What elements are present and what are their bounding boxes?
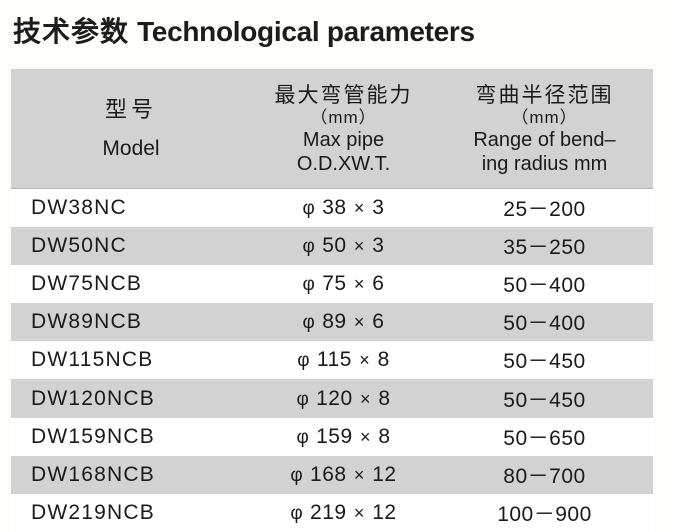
- column-header-max-pipe-english-line2: O.D.XW.T.: [253, 152, 434, 176]
- column-header-max-pipe: 最大弯管能力 （mm） Max pipe O.D.XW.T.: [251, 69, 436, 189]
- pipe-diameter-value: 219: [304, 501, 353, 524]
- cell-model: DW159NCB: [11, 418, 251, 456]
- cell-max-pipe: φ 159 × 8: [251, 418, 436, 456]
- table-row: DW168NCBφ 168 × 1280－700: [11, 456, 653, 494]
- diameter-symbol-icon: φ: [290, 503, 303, 524]
- pipe-diameter-value: 120: [310, 387, 359, 410]
- column-header-max-pipe-chinese: 最大弯管能力: [253, 82, 434, 108]
- diameter-symbol-icon: φ: [297, 350, 310, 371]
- cell-bending-radius: 50－400: [436, 265, 653, 303]
- pipe-diameter-value: 75: [316, 272, 353, 295]
- diameter-symbol-icon: φ: [303, 198, 316, 219]
- page-title-chinese: 技术参数: [13, 15, 129, 48]
- table-header-row: 型号 Model 最大弯管能力 （mm） Max pipe O.D.XW.T. …: [11, 69, 653, 189]
- cell-bending-radius: 50－650: [436, 418, 653, 456]
- cell-max-pipe: φ 75 × 6: [251, 265, 436, 303]
- cell-max-pipe: φ 120 × 8: [251, 379, 436, 417]
- pipe-wall-thickness-value: 8: [372, 425, 391, 448]
- table-row: DW120NCBφ 120 × 850－450: [11, 379, 653, 417]
- page-title: 技术参数 Technological parameters: [13, 12, 653, 52]
- cell-model: DW168NCB: [11, 456, 251, 494]
- cell-bending-radius: 100－900: [436, 494, 653, 532]
- diameter-symbol-icon: φ: [290, 465, 303, 486]
- cell-bending-radius: 50－450: [436, 341, 653, 379]
- cell-model: DW75NCB: [11, 265, 251, 303]
- pipe-wall-thickness-value: 12: [366, 463, 397, 486]
- multiply-symbol-icon: ×: [359, 427, 372, 447]
- pipe-wall-thickness-value: 6: [366, 310, 385, 333]
- column-header-model-chinese: 型号: [13, 94, 249, 134]
- multiply-symbol-icon: ×: [359, 389, 372, 409]
- cell-max-pipe: φ 89 × 6: [251, 303, 436, 341]
- cell-max-pipe: φ 115 × 8: [251, 341, 436, 379]
- multiply-symbol-icon: ×: [353, 274, 366, 294]
- column-header-bending-radius-english-line1: Range of bend–: [438, 128, 651, 152]
- table-row: DW50NCφ 50 × 335－250: [11, 227, 653, 265]
- cell-max-pipe: φ 168 × 12: [251, 456, 436, 494]
- pipe-wall-thickness-value: 6: [366, 272, 385, 295]
- column-header-max-pipe-english-line1: Max pipe: [253, 128, 434, 152]
- cell-bending-radius: 35－250: [436, 227, 653, 265]
- pipe-wall-thickness-value: 3: [366, 234, 385, 257]
- multiply-symbol-icon: ×: [353, 503, 366, 523]
- table-header: 型号 Model 最大弯管能力 （mm） Max pipe O.D.XW.T. …: [11, 69, 653, 189]
- cell-max-pipe: φ 38 × 3: [251, 189, 436, 227]
- table-body: DW38NCφ 38 × 325－200DW50NCφ 50 × 335－250…: [11, 189, 653, 532]
- multiply-symbol-icon: ×: [353, 236, 366, 256]
- pipe-diameter-value: 159: [310, 425, 359, 448]
- cell-bending-radius: 80－700: [436, 456, 653, 494]
- pipe-diameter-value: 89: [316, 310, 353, 333]
- pipe-diameter-value: 168: [304, 463, 353, 486]
- column-header-model-english: Model: [13, 134, 249, 164]
- column-header-bending-radius-chinese: 弯曲半径范围: [438, 82, 651, 108]
- diameter-symbol-icon: φ: [303, 312, 316, 333]
- diameter-symbol-icon: φ: [296, 389, 309, 410]
- table-row: DW75NCBφ 75 × 650－400: [11, 265, 653, 303]
- cell-model: DW50NC: [11, 227, 251, 265]
- diameter-symbol-icon: φ: [303, 236, 316, 257]
- table-row: DW159NCBφ 159 × 850－650: [11, 418, 653, 456]
- column-header-bending-radius-english-line2: ing radius mm: [438, 152, 651, 176]
- cell-model: DW115NCB: [11, 341, 251, 379]
- column-header-bending-radius: 弯曲半径范围 （mm） Range of bend– ing radius mm: [436, 69, 653, 189]
- cell-bending-radius: 50－450: [436, 379, 653, 417]
- column-header-model: 型号 Model: [11, 69, 251, 189]
- pipe-diameter-value: 115: [311, 348, 359, 371]
- cell-max-pipe: φ 50 × 3: [251, 227, 436, 265]
- table-row: DW219NCBφ 219 × 12100－900: [11, 494, 653, 532]
- pipe-wall-thickness-value: 8: [372, 387, 391, 410]
- table-row: DW38NCφ 38 × 325－200: [11, 189, 653, 227]
- table-row: DW115NCBφ 115 × 850－450: [11, 341, 653, 379]
- cell-model: DW219NCB: [11, 494, 251, 532]
- table-row: DW89NCBφ 89 × 650－400: [11, 303, 653, 341]
- cell-model: DW120NCB: [11, 379, 251, 417]
- column-header-bending-radius-unit: （mm）: [438, 108, 651, 128]
- specification-table: 型号 Model 最大弯管能力 （mm） Max pipe O.D.XW.T. …: [11, 69, 653, 532]
- multiply-symbol-icon: ×: [353, 198, 366, 218]
- pipe-diameter-value: 50: [316, 234, 353, 257]
- cell-model: DW38NC: [11, 189, 251, 227]
- cell-model: DW89NCB: [11, 303, 251, 341]
- cell-bending-radius: 25－200: [436, 189, 653, 227]
- diameter-symbol-icon: φ: [296, 427, 309, 448]
- cell-max-pipe: φ 219 × 12: [251, 494, 436, 532]
- spec-table-container: 型号 Model 最大弯管能力 （mm） Max pipe O.D.XW.T. …: [11, 69, 653, 532]
- pipe-wall-thickness-value: 12: [366, 501, 397, 524]
- diameter-symbol-icon: φ: [303, 274, 316, 295]
- pipe-wall-thickness-value: 3: [366, 196, 385, 219]
- cell-bending-radius: 50－400: [436, 303, 653, 341]
- multiply-symbol-icon: ×: [353, 312, 366, 332]
- pipe-wall-thickness-value: 8: [371, 348, 390, 371]
- pipe-diameter-value: 38: [316, 196, 353, 219]
- page-title-english: Technological parameters: [137, 16, 475, 47]
- multiply-symbol-icon: ×: [358, 350, 371, 370]
- column-header-max-pipe-unit: （mm）: [253, 108, 434, 128]
- multiply-symbol-icon: ×: [353, 465, 366, 485]
